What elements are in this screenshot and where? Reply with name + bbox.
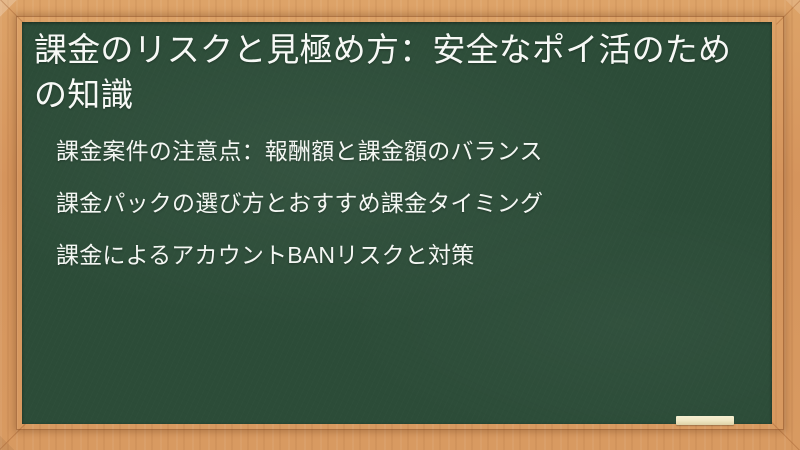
topic-list: 課金案件の注意点：報酬額と課金額のバランス 課金パックの選び方とおすすめ課金タイ… [34,140,746,267]
topic-item-3: 課金によるアカウントBANリスクと対策 [56,244,746,267]
slide-title: 課金のリスクと見極め方：安全なポイ活のための知識 [34,28,746,118]
chalkboard-content: 課金のリスクと見極め方：安全なポイ活のための知識 課金案件の注意点：報酬額と課金… [22,22,772,267]
chalk-stick [676,416,734,425]
topic-item-2: 課金パックの選び方とおすすめ課金タイミング [56,192,746,215]
chalkboard-slide: 課金のリスクと見極め方：安全なポイ活のための知識 課金案件の注意点：報酬額と課金… [0,0,800,450]
topic-item-1: 課金案件の注意点：報酬額と課金額のバランス [56,140,746,163]
chalkboard-surface: 課金のリスクと見極め方：安全なポイ活のための知識 課金案件の注意点：報酬額と課金… [22,22,772,424]
